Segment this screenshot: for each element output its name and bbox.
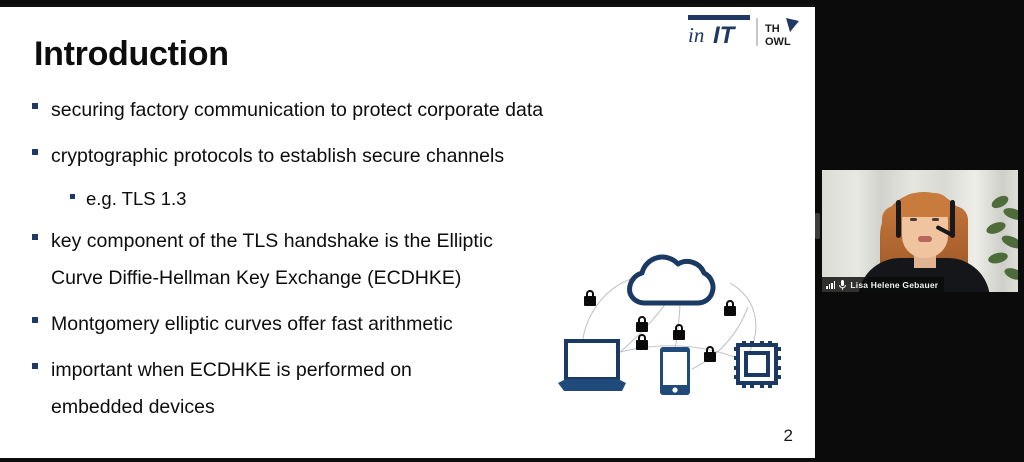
list-item-label: cryptographic protocols to establish sec… [51,138,504,175]
headset-left [896,200,901,238]
bullet-square-icon [32,363,38,369]
scrollbar-thumb[interactable] [815,213,820,239]
participant-name: Lisa Helene Gebauer [850,280,938,290]
svg-text:IT: IT [713,22,737,49]
participant-video [872,184,976,292]
participant-name-bar: Lisa Helene Gebauer [822,277,944,292]
bullet-square-icon [32,103,38,109]
fringe [898,193,952,217]
microphone-icon [839,280,846,290]
list-item-label: key component of the TLS handshake is th… [51,223,493,297]
list-item-label: securing factory communication to protec… [51,92,543,129]
svg-text:OWL: OWL [765,36,791,48]
mouth [918,236,932,242]
list-item-sub: e.g. TLS 1.3 [70,184,652,214]
svg-text:in: in [688,23,704,47]
smartphone-icon [660,347,690,395]
signal-bars-icon [826,281,835,289]
bullet-square-icon [32,317,38,323]
presentation-slide[interactable]: in IT TH OWL Introduction securing facto… [0,4,815,458]
secure-cloud-connectivity-diagram [552,237,797,402]
laptop-icon [558,341,626,391]
list-item-label: e.g. TLS 1.3 [86,184,186,214]
init-th-owl-logo: in IT TH OWL [687,12,799,52]
eye-right [932,218,939,221]
list-item-label: important when ECDHKE is performed on em… [51,352,412,426]
bullet-square-icon [32,234,38,240]
page-title: Introduction [34,35,229,74]
list-item: cryptographic protocols to establish sec… [32,138,652,175]
bullet-square-icon [70,194,75,199]
svg-text:TH: TH [765,23,780,35]
webcam-tile[interactable]: Lisa Helene Gebauer [822,170,1018,292]
slide-top-rule [0,4,815,7]
bullet-square-icon [32,149,38,155]
screen: in IT TH OWL Introduction securing facto… [0,0,1024,462]
list-item: securing factory communication to protec… [32,92,652,129]
eye-left [910,218,917,221]
list-item-label: Montgomery elliptic curves offer fast ar… [51,306,453,343]
microchip-icon [734,341,781,388]
page-number: 2 [784,426,793,446]
